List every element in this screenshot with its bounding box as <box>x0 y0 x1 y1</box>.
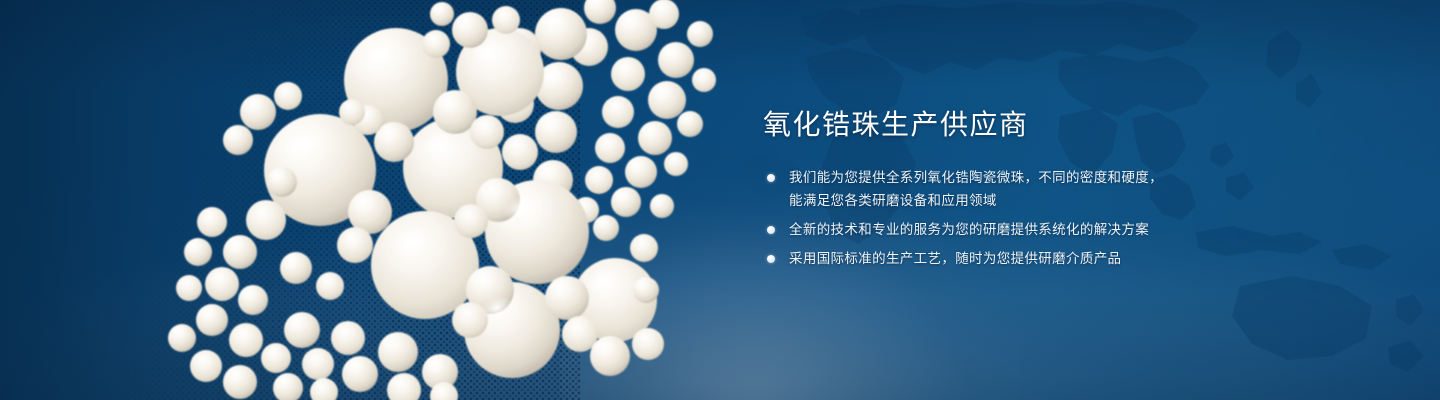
list-item-label: 全新的技术和专业的服务为您的研磨提供系统化的解决方案 <box>789 218 1283 241</box>
list-item: 采用国际标准的生产工艺，随时为您提供研磨介质产品 <box>763 247 1283 270</box>
filled-circle-icon <box>767 174 775 182</box>
banner-copy: 氧化锆珠生产供应商 我们能为您提供全系列氧化锆陶瓷微珠，不同的密度和硬度，能满足… <box>763 108 1283 270</box>
filled-circle-icon <box>767 226 775 234</box>
list-item-label: 我们能为您提供全系列氧化锆陶瓷微珠，不同的密度和硬度，能满足您各类研磨设备和应用… <box>789 166 1283 212</box>
page-title: 氧化锆珠生产供应商 <box>763 108 1283 142</box>
hero-banner: 氧化锆珠生产供应商 我们能为您提供全系列氧化锆陶瓷微珠，不同的密度和硬度，能满足… <box>0 0 1440 400</box>
feature-list: 我们能为您提供全系列氧化锆陶瓷微珠，不同的密度和硬度，能满足您各类研磨设备和应用… <box>763 166 1283 270</box>
list-item: 我们能为您提供全系列氧化锆陶瓷微珠，不同的密度和硬度，能满足您各类研磨设备和应用… <box>763 166 1283 212</box>
list-item: 全新的技术和专业的服务为您的研磨提供系统化的解决方案 <box>763 218 1283 241</box>
list-item-label: 采用国际标准的生产工艺，随时为您提供研磨介质产品 <box>789 247 1283 270</box>
filled-circle-icon <box>767 255 775 263</box>
